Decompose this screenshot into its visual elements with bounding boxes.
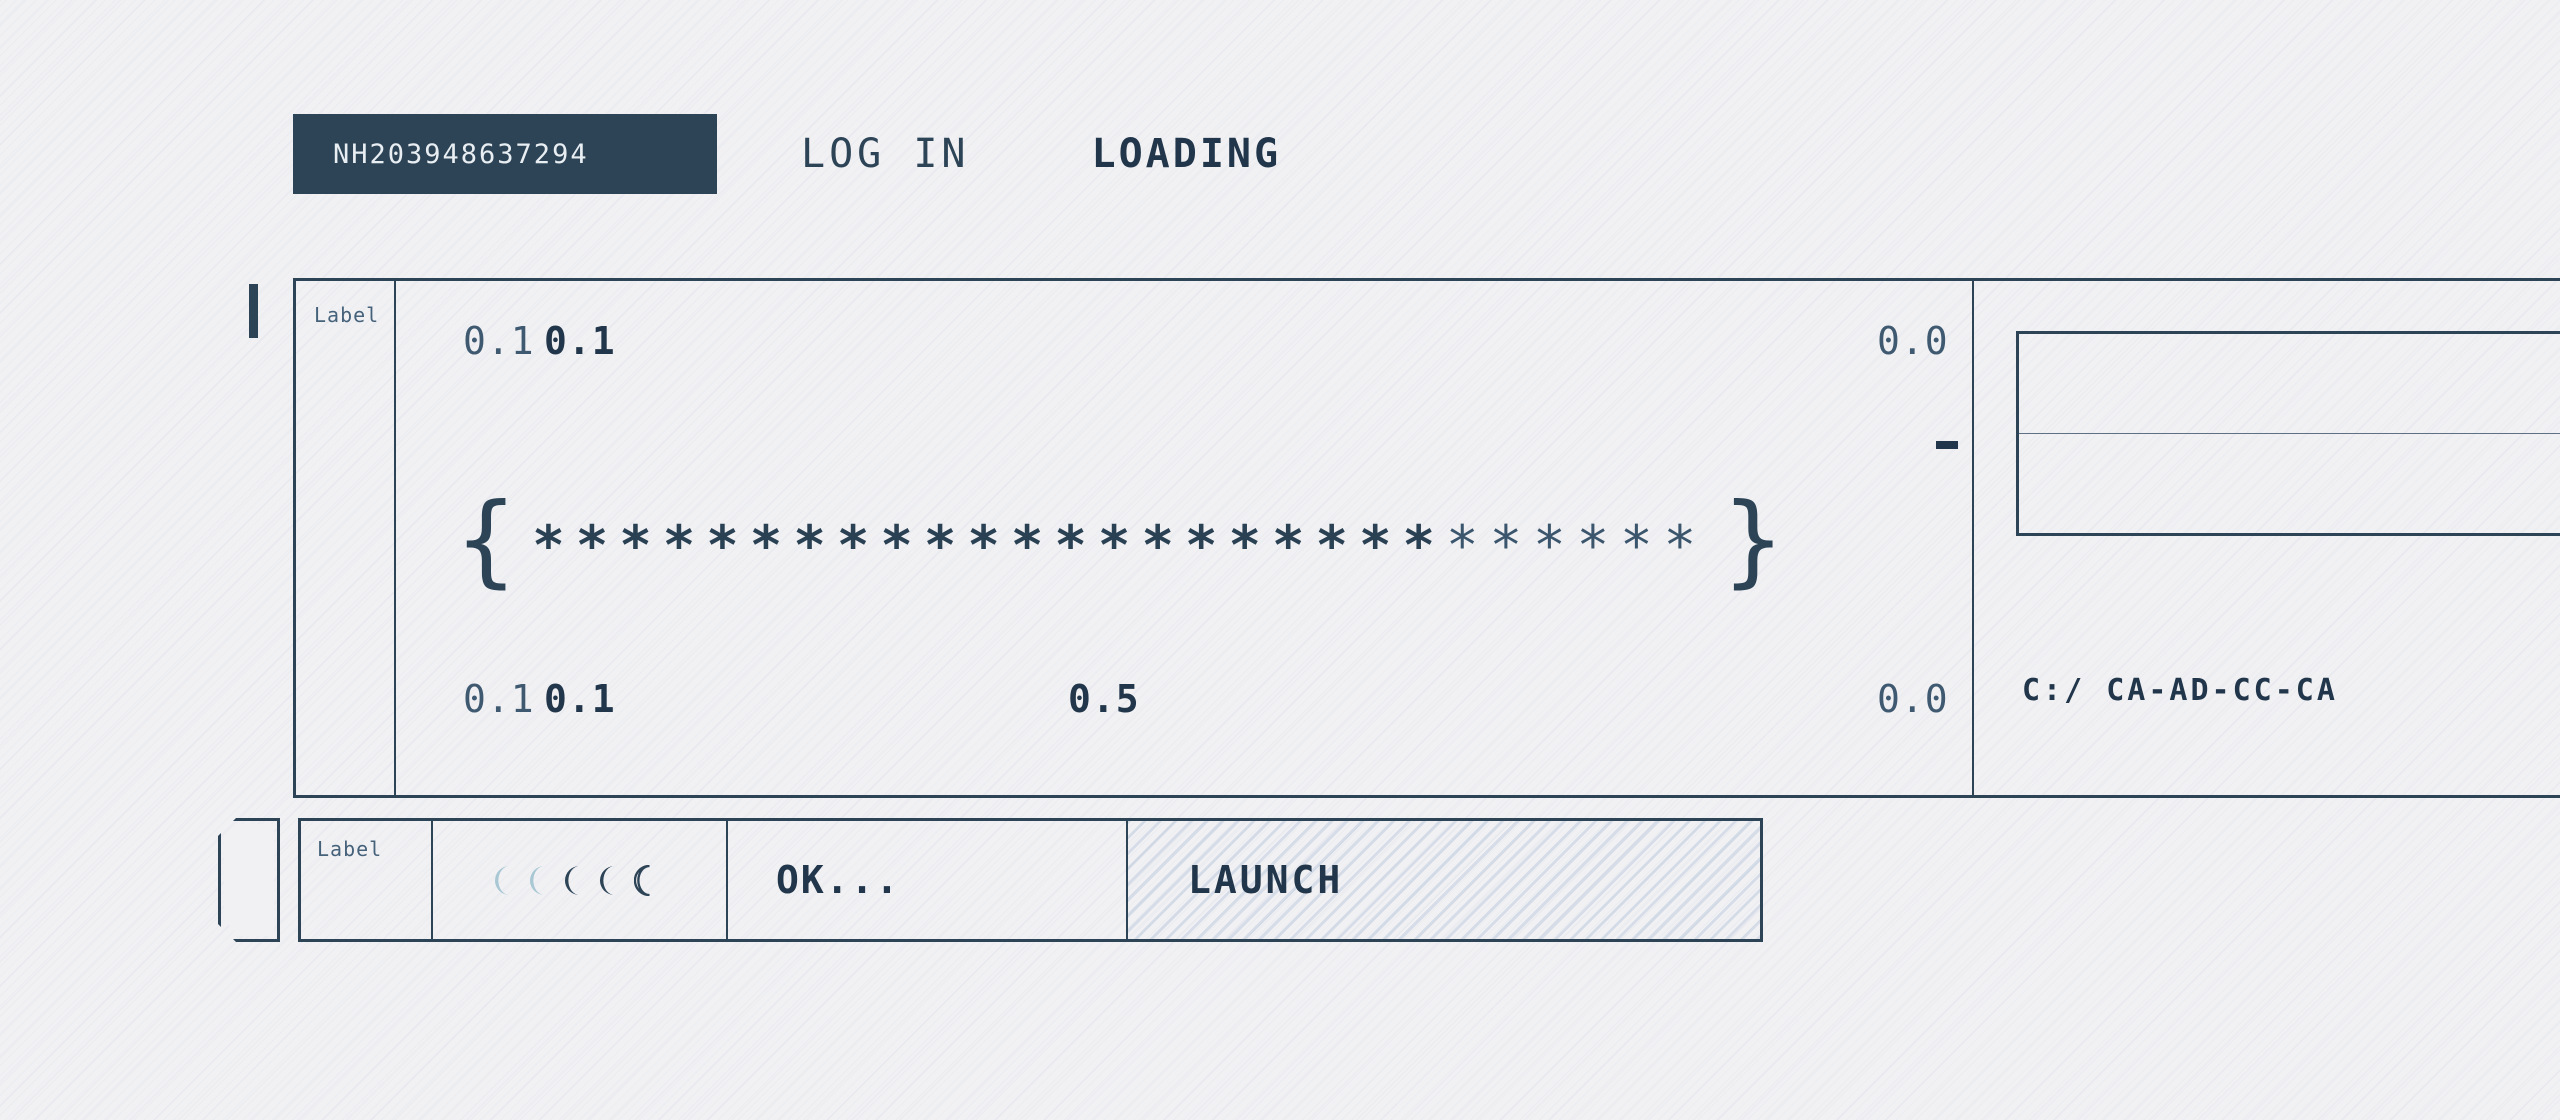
nested-box-divider <box>2019 433 2560 434</box>
header-bar: NH203948637294 LOG IN LOADING <box>293 114 1281 194</box>
toolbar-label-cell: Label <box>301 821 431 939</box>
nested-box <box>2016 331 2560 536</box>
star-heavy: * <box>1098 519 1131 573</box>
notched-tab[interactable] <box>218 818 280 942</box>
star-heavy: * <box>1316 519 1349 573</box>
star-heavy: * <box>1228 519 1261 573</box>
star-heavy: * <box>924 519 957 573</box>
moon-phase-3-icon <box>564 865 595 896</box>
ok-button[interactable]: OK... <box>726 821 1126 939</box>
top-value-a: 0.1 <box>463 319 535 363</box>
top-value-b: 0.1 <box>544 319 616 363</box>
ok-button-label: OK... <box>776 858 900 902</box>
launch-button[interactable]: LAUNCH <box>1126 821 1760 939</box>
star-heavy: * <box>532 519 565 573</box>
toolbar-label: Label <box>317 837 382 861</box>
star-heavy: * <box>1403 519 1436 573</box>
bottom-toolbar: Label OK... LAUNCH <box>218 818 1763 942</box>
star-thin: * <box>1620 519 1653 573</box>
moon-phase-indicator[interactable] <box>431 821 726 939</box>
bottom-value-d: 0.0 <box>1877 677 1949 721</box>
star-heavy: * <box>837 519 870 573</box>
star-heavy: * <box>1359 519 1392 573</box>
panel-tick-marker <box>249 284 258 338</box>
bottom-value-a: 0.1 <box>463 677 535 721</box>
bottom-value-b: 0.1 <box>544 677 616 721</box>
star-heavy: * <box>880 519 913 573</box>
star-heavy: * <box>663 519 696 573</box>
star-heavy: * <box>1272 519 1305 573</box>
star-heavy: * <box>750 519 783 573</box>
top-value-d: 0.0 <box>1877 319 1949 363</box>
star-heavy: * <box>1054 519 1087 573</box>
star-strip: { *************************** } <box>456 491 1783 601</box>
moon-row <box>494 865 665 896</box>
login-link[interactable]: LOG IN <box>801 131 970 177</box>
star-heavy: * <box>576 519 609 573</box>
right-pane: C:/ CA-AD-CC-CA <box>1974 281 2560 795</box>
star-heavy: * <box>1011 519 1044 573</box>
path-text: C:/ CA-AD-CC-CA <box>2022 673 2338 708</box>
star-thin: * <box>1533 519 1566 573</box>
toolbar-strip: Label OK... LAUNCH <box>298 818 1763 942</box>
moon-phase-2-icon <box>529 865 560 896</box>
star-heavy: * <box>793 519 826 573</box>
star-heavy: * <box>967 519 1000 573</box>
dash-marker <box>1936 441 1958 449</box>
id-badge[interactable]: NH203948637294 <box>293 114 717 194</box>
main-panel-label: Label <box>314 303 379 327</box>
bottom-value-c: 0.5 <box>1068 677 1140 721</box>
moon-phase-1-icon <box>494 865 525 896</box>
star-heavy: * <box>1141 519 1174 573</box>
app-root: NH203948637294 LOG IN LOADING Label 0.1 … <box>0 0 2560 1120</box>
star-thin: * <box>1664 519 1697 573</box>
star-thin: * <box>1446 519 1479 573</box>
status-label: LOADING <box>1092 131 1282 177</box>
star-heavy: * <box>619 519 652 573</box>
star-sequence: *************************** <box>532 519 1707 573</box>
moon-phase-5-icon <box>634 865 665 896</box>
open-brace: { <box>456 490 516 590</box>
main-panel-label-cell: Label <box>296 281 396 795</box>
launch-button-label: LAUNCH <box>1188 858 1343 902</box>
moon-phase-4-icon <box>599 865 630 896</box>
close-brace: } <box>1723 490 1783 590</box>
star-thin: * <box>1577 519 1610 573</box>
readout-area: 0.1 0.1 0.0 { **************************… <box>396 281 1974 795</box>
main-panel: Label 0.1 0.1 0.0 { ********************… <box>293 278 2560 798</box>
star-heavy: * <box>706 519 739 573</box>
star-heavy: * <box>1185 519 1218 573</box>
id-badge-text: NH203948637294 <box>333 139 589 170</box>
star-thin: * <box>1490 519 1523 573</box>
